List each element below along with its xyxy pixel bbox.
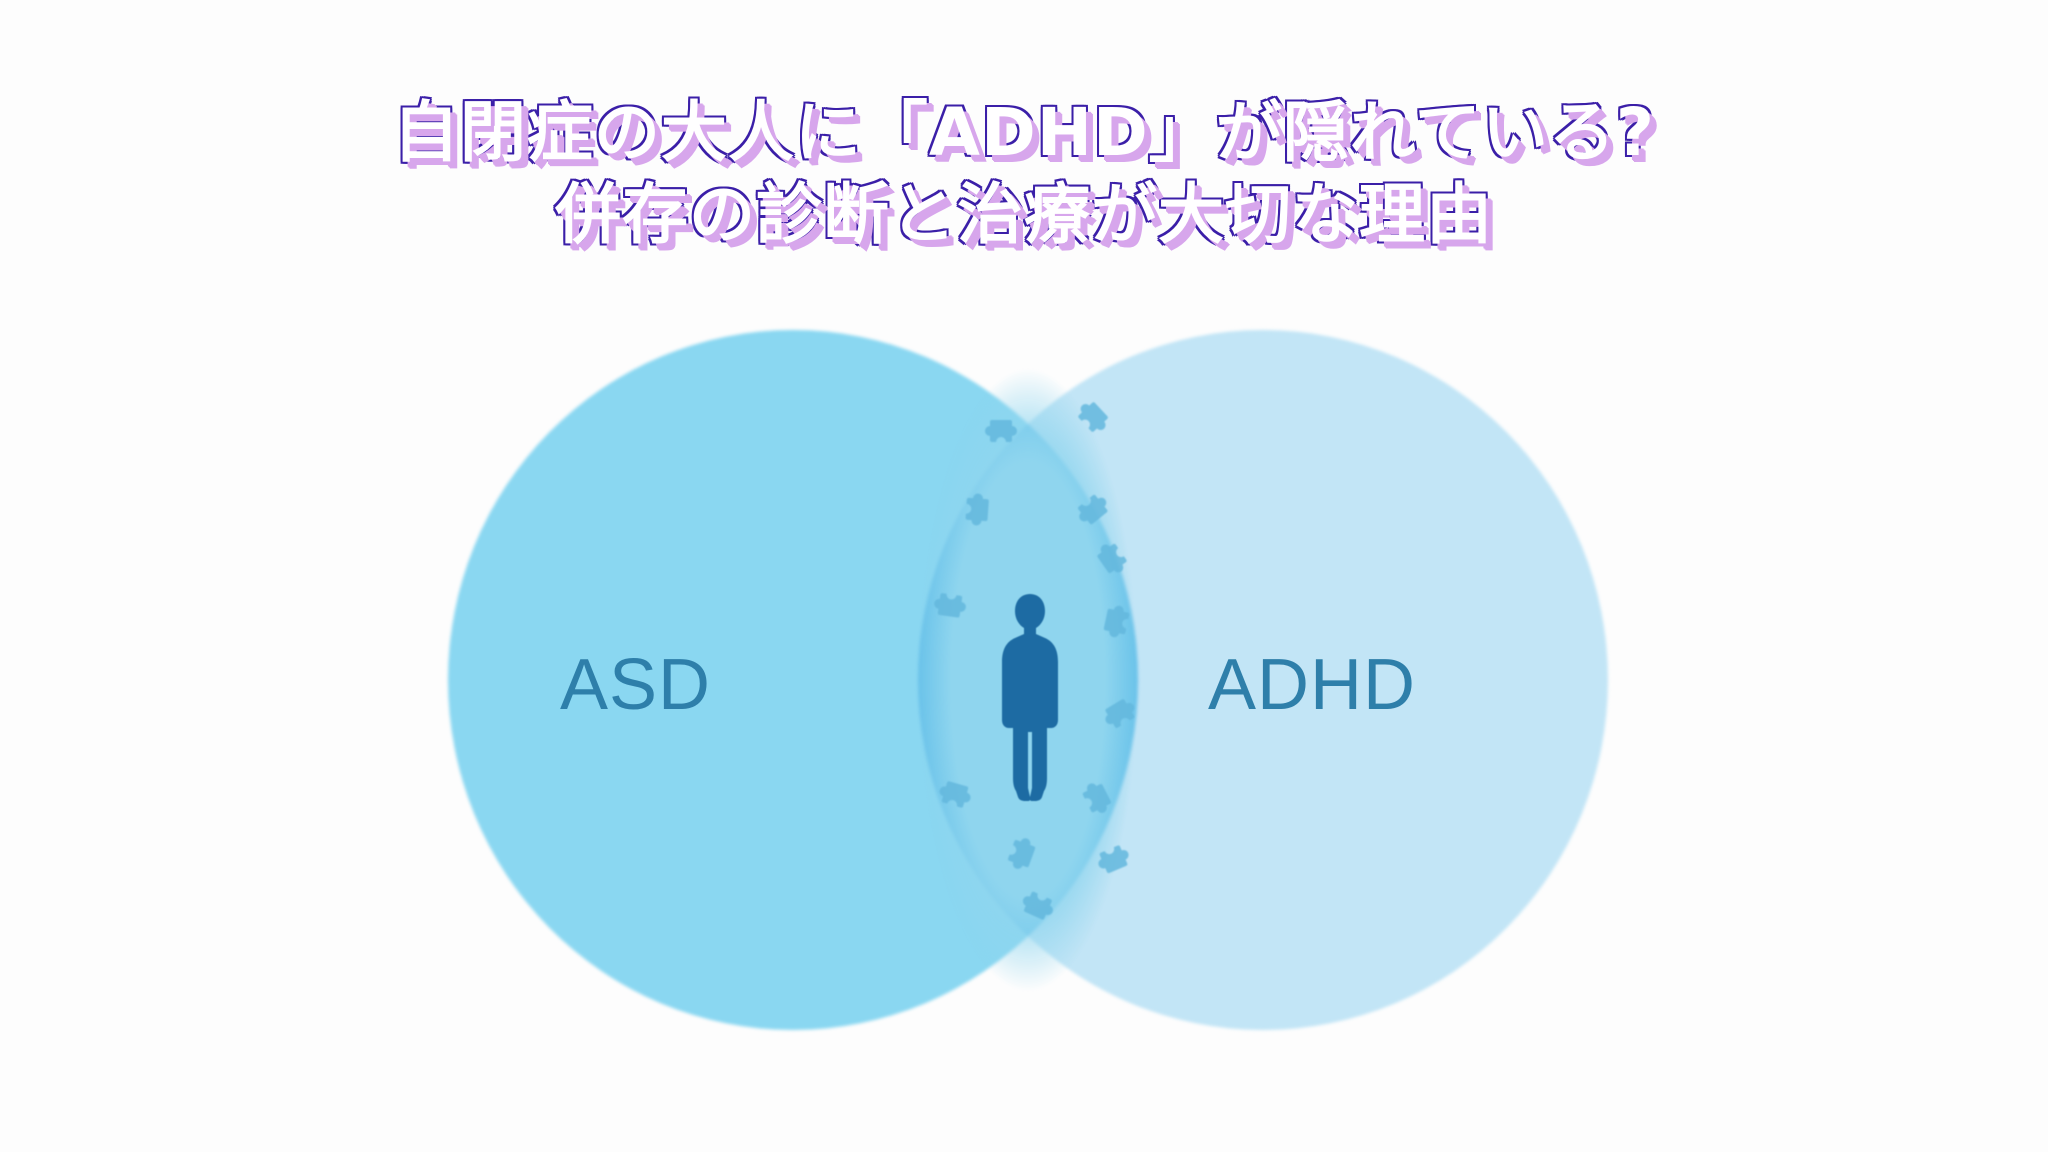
puzzle-piece-icon [1085, 521, 1146, 582]
puzzle-piece-icon [1062, 774, 1121, 833]
puzzle-piece-icon [1079, 825, 1137, 883]
venn-diagram: ASD ADHD [448, 330, 1608, 1030]
title-line-2: 併存の診断と治療が大切な理由 [0, 178, 2048, 252]
puzzle-piece-icon [947, 489, 994, 536]
venn-label-asd: ASD [560, 644, 711, 726]
venn-label-adhd: ADHD [1208, 644, 1416, 726]
puzzle-piece-icon [1055, 475, 1117, 537]
person-icon [991, 592, 1069, 802]
puzzle-piece-icon [1059, 393, 1121, 455]
puzzle-piece-icon [923, 573, 973, 623]
puzzle-piece-icon [929, 775, 983, 829]
comorbidity-illustration [918, 380, 1142, 980]
page-title: 自閉症の大人に「ADHD」が隠れている? 併存の診断と治療が大切な理由 [0, 96, 2048, 252]
puzzle-piece-icon [982, 416, 1026, 460]
puzzle-piece-icon [1098, 594, 1150, 646]
slide-canvas: 自閉症の大人に「ADHD」が隠れている? 併存の診断と治療が大切な理由 ASD … [0, 0, 2048, 1152]
title-line-1: 自閉症の大人に「ADHD」が隠れている? [0, 96, 2048, 170]
